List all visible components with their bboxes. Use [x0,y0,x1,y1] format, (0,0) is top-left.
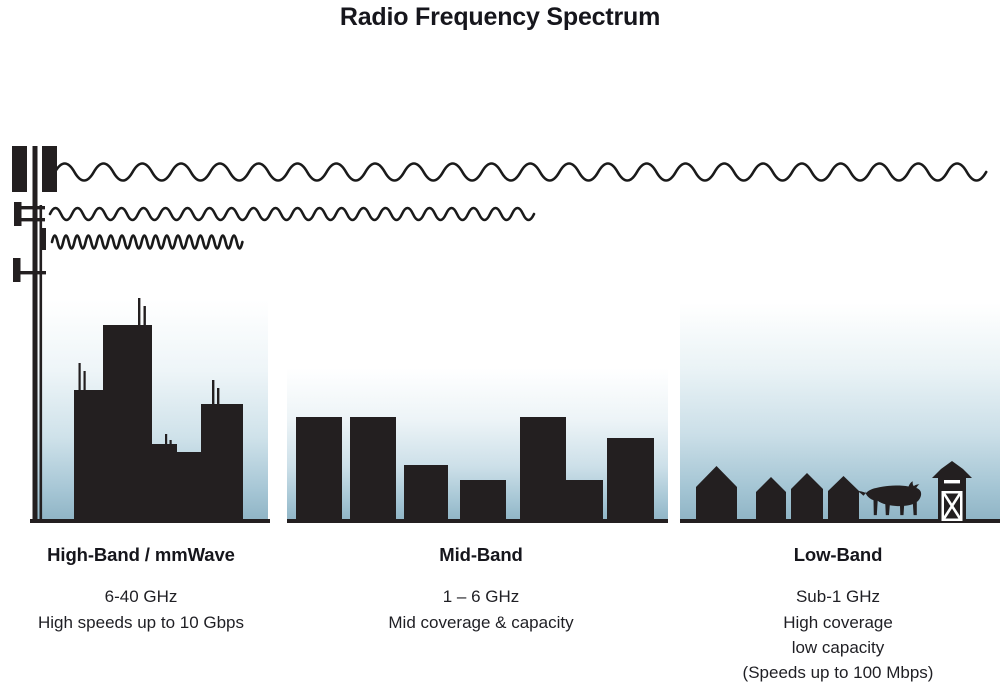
skyscraper-b [103,325,152,521]
mid-building-1 [296,417,342,521]
band-detail-mid-band-0: Mid coverage & capacity [290,610,672,635]
mid-building-4 [460,480,506,521]
antenna-crossarm-lower [20,271,46,274]
band-detail-low-band-0: High coverage [676,610,1000,635]
band-title-low-band: Low-Band [676,545,1000,565]
band-detail-high-band-0: High speeds up to 10 Gbps [0,610,282,635]
band-caption-mid-band: Mid-Band 1 – 6 GHz Mid coverage & capaci… [290,545,672,635]
mid-building-7 [607,438,654,521]
building-spire-d2 [170,440,172,452]
mid-building-5 [520,417,566,521]
building-spire-e1 [212,380,214,404]
mid-building-2 [350,417,396,521]
building-spire-d1 [165,434,167,452]
band-details-low-band: Sub-1 GHz High coverage low capacity (Sp… [676,584,1000,685]
band-details-mid-band: 1 – 6 GHz Mid coverage & capacity [290,584,672,634]
antenna-panel-right [42,146,57,192]
band-title-high-band: High-Band / mmWave [0,545,282,565]
antenna-bar-middle [40,228,46,250]
antenna-panel-left [12,146,27,192]
skyscraper-a [74,390,103,521]
skyscraper-e [201,404,243,521]
band-details-high-band: 6-40 GHz High speeds up to 10 Gbps [0,584,282,634]
antenna-crossarm-upper-b [21,218,45,221]
infographic-canvas: Radio Frequency Spectrum [0,0,1000,700]
building-spire-b1 [138,298,140,325]
band-detail-low-band-1: low capacity [676,635,1000,660]
antenna-crossarm-upper-a [21,206,45,209]
radio-waves [50,164,986,249]
band-caption-high-band: High-Band / mmWave 6-40 GHz High speeds … [0,545,282,635]
midrise-d [165,452,201,521]
high-band-wave [52,236,242,249]
antenna-bar-lower [13,258,21,282]
band-frequency-low-band: Sub-1 GHz [676,584,1000,609]
barn-loft-window [944,480,960,483]
building-spire-e2 [217,388,219,404]
mid-band-wave [50,208,534,220]
building-spire-b2 [144,306,146,326]
band-caption-low-band: Low-Band Sub-1 GHz High coverage low cap… [676,545,1000,685]
tower-mast [33,146,38,521]
tower-mast-secondary [40,205,43,521]
band-detail-low-band-2: (Speeds up to 100 Mbps) [676,660,1000,685]
mid-building-6 [566,480,603,521]
band-frequency-mid-band: 1 – 6 GHz [290,584,672,609]
low-band-wave [55,164,986,181]
band-frequency-high-band: 6-40 GHz [0,584,282,609]
antenna-bar-upper [14,202,22,226]
band-title-mid-band: Mid-Band [290,545,672,565]
mid-building-3 [404,465,448,521]
